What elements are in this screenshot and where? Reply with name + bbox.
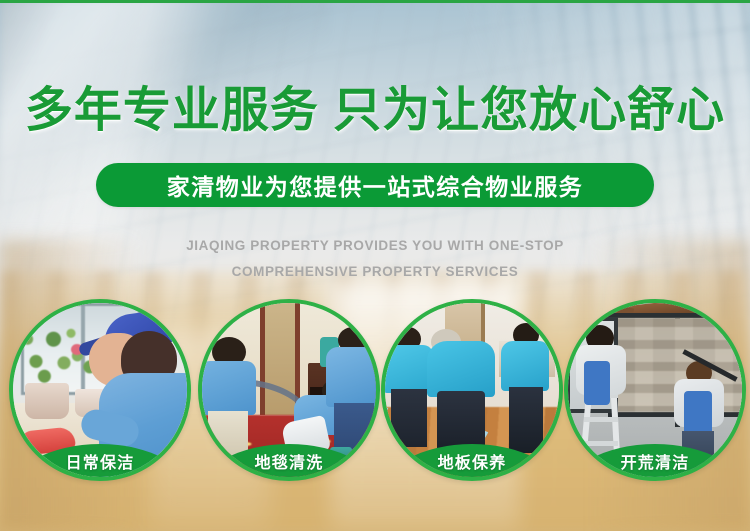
service-card-initial-cleaning[interactable]: 开荒清洁 xyxy=(564,299,746,481)
service-circle-list: 日常保洁 地毯清洗 xyxy=(0,0,750,531)
promo-banner: 多年专业服务 只为让您放心舒心 家清物业为您提供一站式综合物业服务 JIAQIN… xyxy=(0,0,750,531)
service-card-floor-maintenance[interactable]: 地板保养 xyxy=(381,299,563,481)
service-card-daily-cleaning[interactable]: 日常保洁 xyxy=(9,299,191,481)
top-accent-rule xyxy=(0,0,750,3)
service-label-initial-cleaning: 开荒清洁 xyxy=(621,449,690,473)
service-label-carpet-cleaning: 地毯清洗 xyxy=(255,449,324,473)
service-card-carpet-cleaning[interactable]: 地毯清洗 xyxy=(198,299,380,481)
service-label-daily-cleaning: 日常保洁 xyxy=(66,449,135,473)
service-label-floor-maintenance: 地板保养 xyxy=(438,449,507,473)
